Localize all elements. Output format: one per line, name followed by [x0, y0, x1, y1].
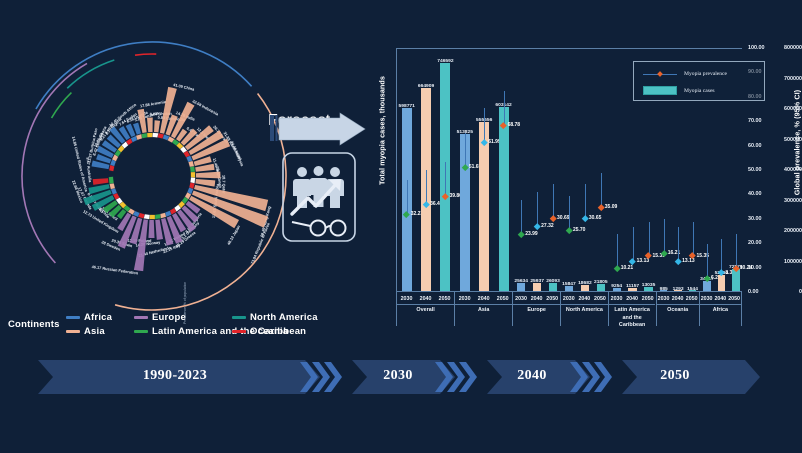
x-axis-years: 203020402050: [513, 293, 560, 304]
continents-legend-title: Continents: [8, 319, 60, 330]
prevalence-ci-stem: [407, 180, 408, 214]
x-tick-north-america-2050: 2050: [594, 296, 606, 302]
x-axis-group-label: Africa: [700, 306, 741, 315]
y-tick-left-1: 100000: [768, 259, 802, 265]
x-axis-group-latin-america-and-the-caribbean: 203020402050Latin America and the Caribb…: [608, 292, 656, 326]
x-tick-europe-2030: 2030: [515, 296, 527, 302]
y-tick-right-2: 20.00: [748, 240, 762, 246]
legend-swatch-africa: [66, 316, 80, 319]
bar-europe-2030[interactable]: [517, 283, 525, 291]
legend-row-cases[interactable]: Myopia cases: [643, 86, 715, 95]
bar-value-label: 746592: [429, 59, 461, 64]
timeline: 1990-2023 2030 2040 2050: [0, 352, 802, 402]
prevalence-value-label: 10.24: [740, 265, 753, 271]
prevalence-ci-stem: [465, 133, 466, 167]
prevalence-marker-north-america-2030[interactable]: [566, 227, 572, 233]
x-tick-africa-2050: 2050: [728, 296, 740, 302]
y-tick-right-5: 50.00: [748, 167, 762, 173]
bar-chart-y-axis-label-left: Total myopia cases, thousands: [378, 73, 387, 189]
y-tick-right-3: 30.00: [748, 216, 762, 222]
svg-text:34.06 Malaysia: 34.06 Malaysia: [229, 140, 245, 168]
prevalence-ci-stem: [504, 91, 505, 125]
legend-label-africa: Africa: [84, 312, 112, 323]
prevalence-ci-stem: [693, 222, 694, 256]
x-tick-latin-america-and-the-caribbean-2050: 2050: [642, 296, 654, 302]
forecast-arrow-icon: [270, 112, 366, 146]
continents-legend: Continents Africa Europe North America A…: [4, 308, 364, 344]
projection-bar-chart: Total myopia cases, thousands Global pre…: [360, 40, 802, 330]
timeline-label-2: 2030: [358, 368, 438, 384]
legend-row-prevalence[interactable]: Myopia prevalence: [643, 71, 727, 77]
bar-chart-legend: Myopia prevalence Myopia cases: [633, 61, 765, 101]
x-axis-group-label: North America: [561, 306, 608, 315]
legend-item-europe[interactable]: Europe: [134, 312, 186, 323]
prevalence-ci-stem: [601, 173, 602, 207]
x-axis-group-label: Overall: [397, 306, 454, 315]
x-axis-group-label: Latin America and the Caribbean: [609, 306, 656, 330]
y-tick-right-10: 100.00: [748, 45, 765, 51]
x-axis-separator: [455, 304, 512, 305]
prevalence-ci-stem: [633, 227, 634, 261]
prevalence-marker-oceania-2040[interactable]: [675, 258, 681, 264]
prevalence-marker-north-america-2050[interactable]: [598, 204, 604, 210]
y-tick-right-7: 70.00: [748, 118, 762, 124]
prevalence-value-label: 68.78: [508, 122, 521, 128]
prevalence-ci-stem: [553, 184, 554, 218]
x-tick-overall-2050: 2050: [439, 296, 451, 302]
y-tick-left-2: 200000: [768, 228, 802, 234]
svg-text:17.88 Armenia: 17.88 Armenia: [140, 99, 168, 108]
bar-chart-plot-area: 59877132.2366490936.4074659239.805138255…: [396, 48, 742, 292]
x-axis-years: 203020402050: [657, 293, 699, 304]
prevalence-marker-europe-2030[interactable]: [518, 231, 524, 237]
x-tick-asia-2030: 2030: [459, 296, 471, 302]
bar-value-label: 598771: [391, 104, 423, 109]
bar-asia-2040[interactable]: [479, 122, 489, 291]
legend-swatch-europe: [134, 316, 148, 319]
x-tick-north-america-2040: 2040: [578, 296, 590, 302]
x-axis-separator: [609, 304, 656, 305]
x-tick-overall-2040: 2040: [420, 296, 432, 302]
y-tick-left-6: 600000: [768, 106, 802, 112]
prevalence-value-label: 35.09: [605, 204, 618, 210]
bar-chart-x-axis: 203020402050Overall203020402050Asia20302…: [396, 292, 742, 326]
x-tick-oceania-2040: 2040: [672, 296, 684, 302]
prevalence-ci-stem: [484, 108, 485, 142]
infographic-root: 11.37 Burkina Faso8.42 Ethiopia10.85 Gha…: [0, 0, 802, 453]
prevalence-ci-stem: [445, 162, 446, 196]
y-tick-left-0: 0: [768, 289, 802, 295]
prevalence-value-label: 27.32: [541, 223, 554, 229]
legend-label-prevalence: Myopia prevalence: [684, 71, 727, 77]
legend-item-north-america[interactable]: North America: [232, 312, 318, 323]
bar-africa-2030[interactable]: [703, 281, 710, 291]
x-axis-group-overall: 203020402050Overall: [396, 292, 454, 326]
prevalence-marker-europe-2050[interactable]: [550, 215, 556, 221]
prevalence-value-label: 30.69: [557, 215, 570, 221]
y-tick-left-3: 300000: [768, 198, 802, 204]
prevalence-ci-stem: [537, 192, 538, 226]
y-tick-left-5: 500000: [768, 137, 802, 143]
prevalence-value-label: 13.13: [637, 258, 650, 264]
x-tick-europe-2040: 2040: [531, 296, 543, 302]
legend-label-cases: Myopia cases: [684, 88, 715, 94]
prevalence-ci-stem: [426, 170, 427, 204]
y-tick-right-4: 40.00: [748, 191, 762, 197]
legend-item-asia[interactable]: Asia: [66, 326, 105, 337]
svg-text:32.68 Indonesia: 32.68 Indonesia: [191, 98, 220, 117]
x-tick-oceania-2050: 2050: [686, 296, 698, 302]
prevalence-ci-stem: [521, 200, 522, 234]
y-tick-right-6: 60.00: [748, 143, 762, 149]
x-tick-asia-2040: 2040: [478, 296, 490, 302]
legend-label-north-america: North America: [250, 312, 318, 323]
legend-item-oceania[interactable]: Oceania: [232, 326, 288, 337]
legend-swatch-latin-america: [134, 330, 148, 333]
x-axis-group-label: Europe: [513, 306, 560, 315]
x-axis-years: 203020402050: [561, 293, 608, 304]
legend-label-asia: Asia: [84, 326, 105, 337]
x-tick-latin-america-and-the-caribbean-2040: 2040: [626, 296, 638, 302]
x-axis-group-africa: 203020402050Africa: [699, 292, 742, 326]
x-axis-group-north-america: 203020402050North America: [560, 292, 608, 326]
legend-swatch-oceania: [232, 330, 246, 333]
x-axis-years: 203020402050: [397, 293, 454, 304]
bar-value-label: 664909: [410, 84, 442, 89]
prevalence-ci-stem: [617, 234, 618, 268]
bar-asia-2050[interactable]: [499, 107, 509, 291]
x-axis-group-oceania: 203020402050Oceania: [656, 292, 699, 326]
bar-chart-y-axis-label-right: Global prevalence, % (95% CI): [793, 78, 802, 208]
y-tick-left-8: 800000: [768, 45, 802, 51]
x-axis-years: 203020402050: [609, 293, 656, 304]
bar-africa-2050[interactable]: [732, 269, 739, 291]
prevalence-value-label: 23.99: [525, 231, 538, 237]
prevalence-value-label: 30.65: [589, 215, 602, 221]
prevalence-ci-stem: [664, 219, 665, 253]
prevalence-value-label: 25.70: [573, 227, 586, 233]
prevalence-marker-north-america-2040[interactable]: [582, 215, 588, 221]
prevalence-value-label: 10.21: [621, 265, 634, 271]
prevalence-marker-europe-2040[interactable]: [534, 223, 540, 229]
legend-swatch-north-america: [232, 316, 246, 319]
x-axis-years: 203020402050: [700, 293, 741, 304]
prevalence-ci-stem: [678, 227, 679, 261]
bar-europe-2040[interactable]: [533, 283, 541, 291]
x-axis-separator: [513, 304, 560, 305]
timeline-label-1: 1990-2023: [110, 368, 240, 384]
legend-label-oceania: Oceania: [250, 326, 288, 337]
svg-text:46.17 Russian Federation: 46.17 Russian Federation: [91, 264, 139, 276]
x-tick-africa-2040: 2040: [714, 296, 726, 302]
x-axis-years: 203020402050: [455, 293, 512, 304]
x-tick-africa-2030: 2030: [701, 296, 713, 302]
prevalence-ci-stem: [736, 234, 737, 268]
legend-swatch-asia: [66, 330, 80, 333]
prevalence-value-label: 13.13: [682, 258, 695, 264]
prevalence-ci-stem: [585, 184, 586, 218]
x-tick-europe-2050: 2050: [546, 296, 558, 302]
x-tick-overall-2030: 2030: [401, 296, 413, 302]
x-axis-group-asia: 203020402050Asia: [454, 292, 512, 326]
prevalence-marker-latin-america-and-the-caribbean-2040[interactable]: [629, 258, 635, 264]
x-axis-separator: [397, 304, 454, 305]
y-tick-left-7: 700000: [768, 76, 802, 82]
x-axis-group-europe: 203020402050Europe: [512, 292, 560, 326]
x-axis-group-label: Oceania: [657, 306, 699, 315]
people-trend-glasses-icon: [282, 152, 356, 242]
x-tick-asia-2050: 2050: [497, 296, 509, 302]
prevalence-marker-icon: [643, 74, 677, 75]
x-axis-group-label: Asia: [455, 306, 512, 315]
prevalence-ci-stem: [649, 222, 650, 256]
x-tick-latin-america-and-the-caribbean-2030: 2030: [611, 296, 623, 302]
timeline-label-3: 2040: [492, 368, 572, 384]
x-tick-oceania-2030: 2030: [658, 296, 670, 302]
cases-bar-icon: [643, 86, 677, 95]
x-axis-separator: [700, 304, 741, 305]
prevalence-marker-latin-america-and-the-caribbean-2030[interactable]: [614, 265, 620, 271]
y-tick-left-4: 400000: [768, 167, 802, 173]
legend-item-africa[interactable]: Africa: [66, 312, 112, 323]
prevalence-ci-stem: [569, 196, 570, 230]
legend-label-europe: Europe: [152, 312, 186, 323]
x-tick-north-america-2030: 2030: [563, 296, 575, 302]
forecast-block: Forecast: [268, 112, 368, 246]
timeline-label-4: 2050: [630, 368, 720, 384]
bar-africa-2040[interactable]: [718, 275, 725, 291]
x-axis-separator: [561, 304, 608, 305]
y-tick-right-0: 0.00: [748, 289, 759, 295]
x-axis-separator: [657, 304, 699, 305]
